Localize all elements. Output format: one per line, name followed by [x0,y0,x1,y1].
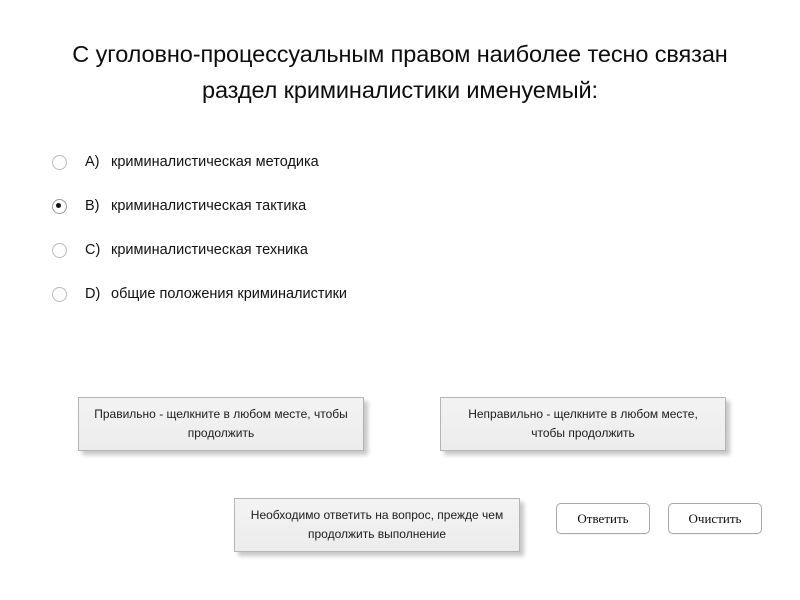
radio-button-c[interactable] [52,243,67,258]
answer-option-b[interactable]: B) криминалистическая тактика [52,184,672,228]
radio-button-b[interactable] [52,199,67,214]
answer-letter-d: D) [85,286,111,302]
answer-text-c: криминалистическая техника [111,242,308,258]
feedback-incorrect-box[interactable]: Неправильно - щелкните в любом месте, чт… [440,397,726,451]
quiz-slide: С уголовно-процессуальным правом наиболе… [0,0,800,600]
answer-text-a: криминалистическая методика [111,154,319,170]
answer-text-d: общие положения криминалистики [111,286,347,302]
answer-letter-c: C) [85,242,111,258]
radio-button-a[interactable] [52,155,67,170]
clear-button[interactable]: Очистить [668,503,762,534]
answer-option-c[interactable]: C) криминалистическая техника [52,228,672,272]
answer-options-group: A) криминалистическая методика B) кримин… [52,140,672,316]
answer-option-d[interactable]: D) общие положения криминалистики [52,272,672,316]
feedback-correct-box[interactable]: Правильно - щелкните в любом месте, чтоб… [78,397,364,451]
feedback-must-answer-box[interactable]: Необходимо ответить на вопрос, прежде че… [234,498,520,552]
answer-letter-a: A) [85,154,111,170]
answer-text-b: криминалистическая тактика [111,198,306,214]
question-title: С уголовно-процессуальным правом наиболе… [40,36,760,108]
radio-button-d[interactable] [52,287,67,302]
answer-letter-b: B) [85,198,111,214]
submit-button[interactable]: Ответить [556,503,650,534]
answer-option-a[interactable]: A) криминалистическая методика [52,140,672,184]
